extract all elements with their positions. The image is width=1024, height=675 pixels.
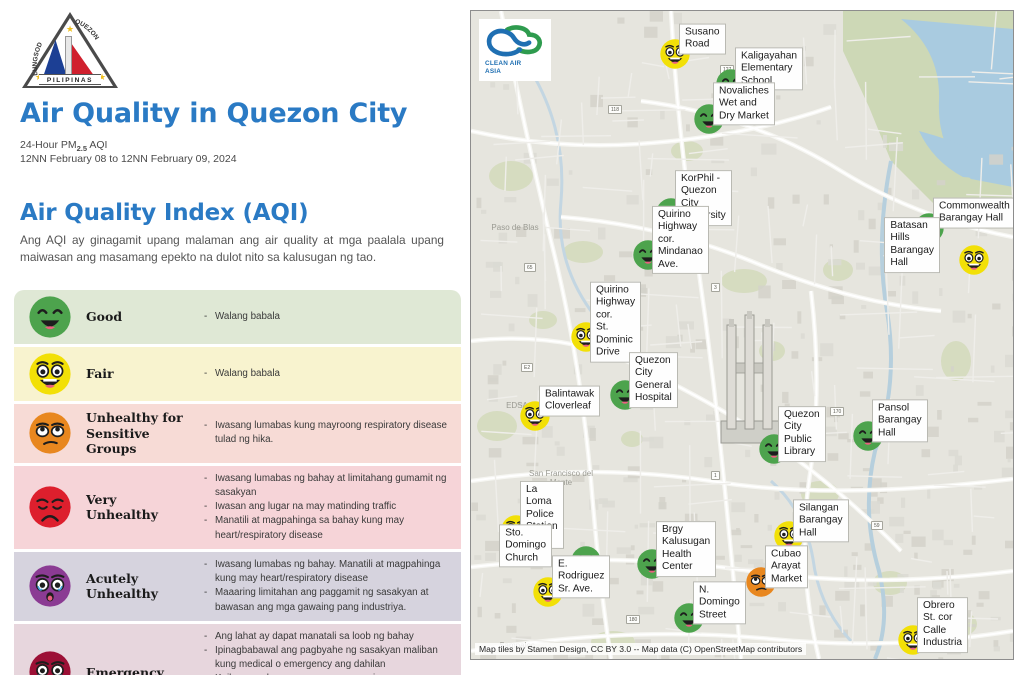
legend-row: Good-Walang babala	[14, 290, 461, 344]
info-panel: LUNGSOD QUEZON ★ ★ ★ PILIPINAS Air Quali…	[0, 0, 470, 675]
legend-advice-text: Manatili at magpahinga sa bahay kung may…	[215, 514, 451, 542]
legend-category-label: Good	[86, 309, 204, 325]
bullet-dash: -	[204, 367, 215, 381]
face-good-icon	[29, 296, 71, 338]
legend-advice-list: -Walang babala	[204, 310, 461, 324]
legend-advice-item: -Manatili at magpahinga sa bahay kung ma…	[204, 514, 451, 542]
legend-category-label: Fair	[86, 366, 204, 382]
map-road-shield: 180	[626, 615, 640, 624]
station-label: Quezon City Public Library	[778, 406, 826, 462]
station-label: Silangan Barangay Hall	[793, 499, 849, 542]
quezon-city-seal-icon: LUNGSOD QUEZON ★ ★ ★ PILIPINAS	[22, 12, 118, 92]
seal-band-label: PILIPINAS	[39, 74, 101, 85]
map-road-shield: 118	[608, 105, 622, 114]
subtitle-prefix: 24-Hour PM	[20, 139, 77, 151]
legend-face-cell	[14, 565, 86, 607]
station-label: Brgy Kalusugan Health Center	[656, 521, 716, 577]
page-title: Air Quality in Quezon City	[20, 98, 407, 129]
legend-face-cell	[14, 353, 86, 395]
map-road-shield: 3	[711, 283, 720, 292]
face-acute-icon	[29, 565, 71, 607]
bullet-dash: -	[204, 500, 215, 514]
svg-text:QUEZON: QUEZON	[74, 18, 100, 41]
map-panel[interactable]: EDSASan Francisco del MonteLa LomaSampal…	[470, 10, 1014, 660]
face-fair-icon	[959, 245, 989, 275]
station-label: Sto. Domingo Church	[499, 524, 552, 567]
legend-advice-text: Ipinagbabawal ang pagbyahe ng sasakyan m…	[215, 644, 451, 672]
legend-advice-item: -Walang babala	[204, 367, 451, 381]
legend-category-label: Acutely Unhealthy	[86, 571, 204, 602]
station-label: Commonwealth Barangay Hall	[933, 198, 1014, 229]
bullet-dash: -	[204, 514, 215, 542]
station-aqi-face-icon[interactable]	[959, 245, 989, 275]
station-label: Susano Road	[679, 24, 726, 55]
bullet-dash: -	[204, 644, 215, 672]
legend-advice-item: -Ang lahat ay dapat manatali sa loob ng …	[204, 630, 451, 644]
legend-advice-item: -Walang babala	[204, 310, 451, 324]
face-very-icon	[29, 486, 71, 528]
bullet-dash: -	[204, 472, 215, 500]
bullet-dash: -	[204, 630, 215, 644]
legend-row: Fair-Walang babala	[14, 347, 461, 401]
legend-advice-list: -Walang babala	[204, 367, 461, 381]
logo-line-2: ASIA	[485, 68, 501, 75]
aqi-section-description: Ang AQI ay ginagamit upang malaman ang a…	[20, 232, 444, 266]
legend-advice-text: Ang lahat ay dapat manatali sa loob ng b…	[215, 630, 414, 644]
legend-row: Unhealthy for Sensitive Groups-Iwasang l…	[14, 404, 461, 463]
station-label: Quezon City General Hospital	[629, 352, 678, 408]
legend-advice-item: -Maaaring limitahan ang paggamit ng sasa…	[204, 586, 451, 614]
legend-advice-item: -Iwasan ang lugar na may matinding traff…	[204, 500, 451, 514]
bullet-dash: -	[204, 419, 215, 447]
legend-face-cell	[14, 651, 86, 675]
face-fair-icon	[29, 353, 71, 395]
legend-advice-item: -Iwasang lumabas kung mayroong respirato…	[204, 419, 451, 447]
subtitle-pollutant: 24-Hour PM2.5 AQI	[20, 139, 107, 153]
station-label: E. Rodriguez Sr. Ave.	[552, 555, 610, 598]
legend-row: Emergency-Ang lahat ay dapat manatali sa…	[14, 624, 461, 675]
legend-advice-text: Iwasan ang lugar na may matinding traffi…	[215, 500, 396, 514]
legend-category-label: Emergency	[86, 665, 204, 675]
legend-advice-text: Iwasang lumabas ng bahay. Manatili at ma…	[215, 558, 451, 586]
station-label: Novaliches Wet and Dry Market	[713, 82, 775, 125]
poster-root: LUNGSOD QUEZON ★ ★ ★ PILIPINAS Air Quali…	[0, 0, 1024, 675]
cloud-infinity-icon	[485, 25, 543, 58]
legend-advice-item: -Iwasang lumabas ng bahay. Manatili at m…	[204, 558, 451, 586]
station-label: Pansol Barangay Hall	[872, 399, 928, 442]
station-label: Cubao Arayat Market	[765, 545, 808, 588]
station-label: N. Domingo Street	[693, 581, 746, 624]
aqi-section-title: Air Quality Index (AQI)	[20, 200, 308, 226]
map-road-shield: 65	[524, 263, 536, 272]
logo-line-1: CLEAN AIR	[485, 60, 521, 67]
quezon-memorial-monument-icon	[715, 311, 785, 446]
legend-category-label: Very Unhealthy	[86, 492, 204, 523]
legend-row: Very Unhealthy-Iwasang lumabas ng bahay …	[14, 466, 461, 549]
station-label: Balintawak Cloverleaf	[539, 386, 600, 417]
legend-advice-list: -Ang lahat ay dapat manatali sa loob ng …	[204, 630, 461, 675]
legend-advice-text: Maaaring limitahan ang paggamit ng sasak…	[215, 586, 451, 614]
clean-air-asia-logo: CLEAN AIR ASIA	[479, 19, 551, 81]
legend-face-cell	[14, 412, 86, 454]
map-road-shield: 59	[871, 521, 883, 530]
map-place-label: Paso de Blas	[477, 223, 553, 232]
legend-advice-item: -Ipinagbabawal ang pagbyahe ng sasakyan …	[204, 644, 451, 672]
station-label: Batasan Hills Barangay Hall	[884, 217, 940, 273]
station-label: Quirino Highway cor. St. Dominic Drive	[590, 282, 641, 363]
legend-row: Acutely Unhealthy-Iwasang lumabas ng bah…	[14, 552, 461, 621]
station-label: Obrero St. cor Calle Industria	[917, 597, 968, 653]
bullet-dash: -	[204, 310, 215, 324]
legend-advice-list: -Iwasang lumabas ng bahay at limitahang …	[204, 472, 461, 543]
map-attribution: Map tiles by Stamen Design, CC BY 3.0 --…	[475, 643, 806, 655]
svg-text:LUNGSOD: LUNGSOD	[32, 41, 44, 76]
bullet-dash: -	[204, 586, 215, 614]
station-label: Quirino Highway cor. Mindanao Ave.	[652, 206, 709, 274]
legend-advice-text: Iwasang lumabas ng bahay at limitahang g…	[215, 472, 451, 500]
legend-advice-list: -Iwasang lumabas ng bahay. Manatili at m…	[204, 558, 461, 615]
subtitle-period: 12NN February 08 to 12NN February 09, 20…	[20, 153, 237, 165]
legend-advice-item: -Iwasang lumabas ng bahay at limitahang …	[204, 472, 451, 500]
legend-advice-list: -Iwasang lumabas kung mayroong respirato…	[204, 419, 461, 447]
aqi-legend-table: Good-Walang babalaFair-Walang babalaUnhe…	[14, 290, 461, 675]
map-road-shield: 1	[711, 471, 720, 480]
map-road-shield: 170	[830, 407, 844, 416]
legend-face-cell	[14, 296, 86, 338]
subtitle-subscript: 2.5	[77, 144, 87, 153]
map-road-shield: E2	[521, 363, 533, 372]
legend-advice-text: Walang babala	[215, 310, 280, 324]
legend-advice-text: Iwasang lumabas kung mayroong respirator…	[215, 419, 451, 447]
legend-category-label: Unhealthy for Sensitive Groups	[86, 410, 204, 457]
subtitle-suffix: AQI	[87, 139, 107, 151]
legend-face-cell	[14, 486, 86, 528]
face-usg-icon	[29, 412, 71, 454]
bullet-dash: -	[204, 558, 215, 586]
legend-advice-text: Walang babala	[215, 367, 280, 381]
clean-air-asia-logo-text: CLEAN AIR ASIA	[485, 60, 521, 75]
face-emergency-icon	[29, 651, 71, 675]
